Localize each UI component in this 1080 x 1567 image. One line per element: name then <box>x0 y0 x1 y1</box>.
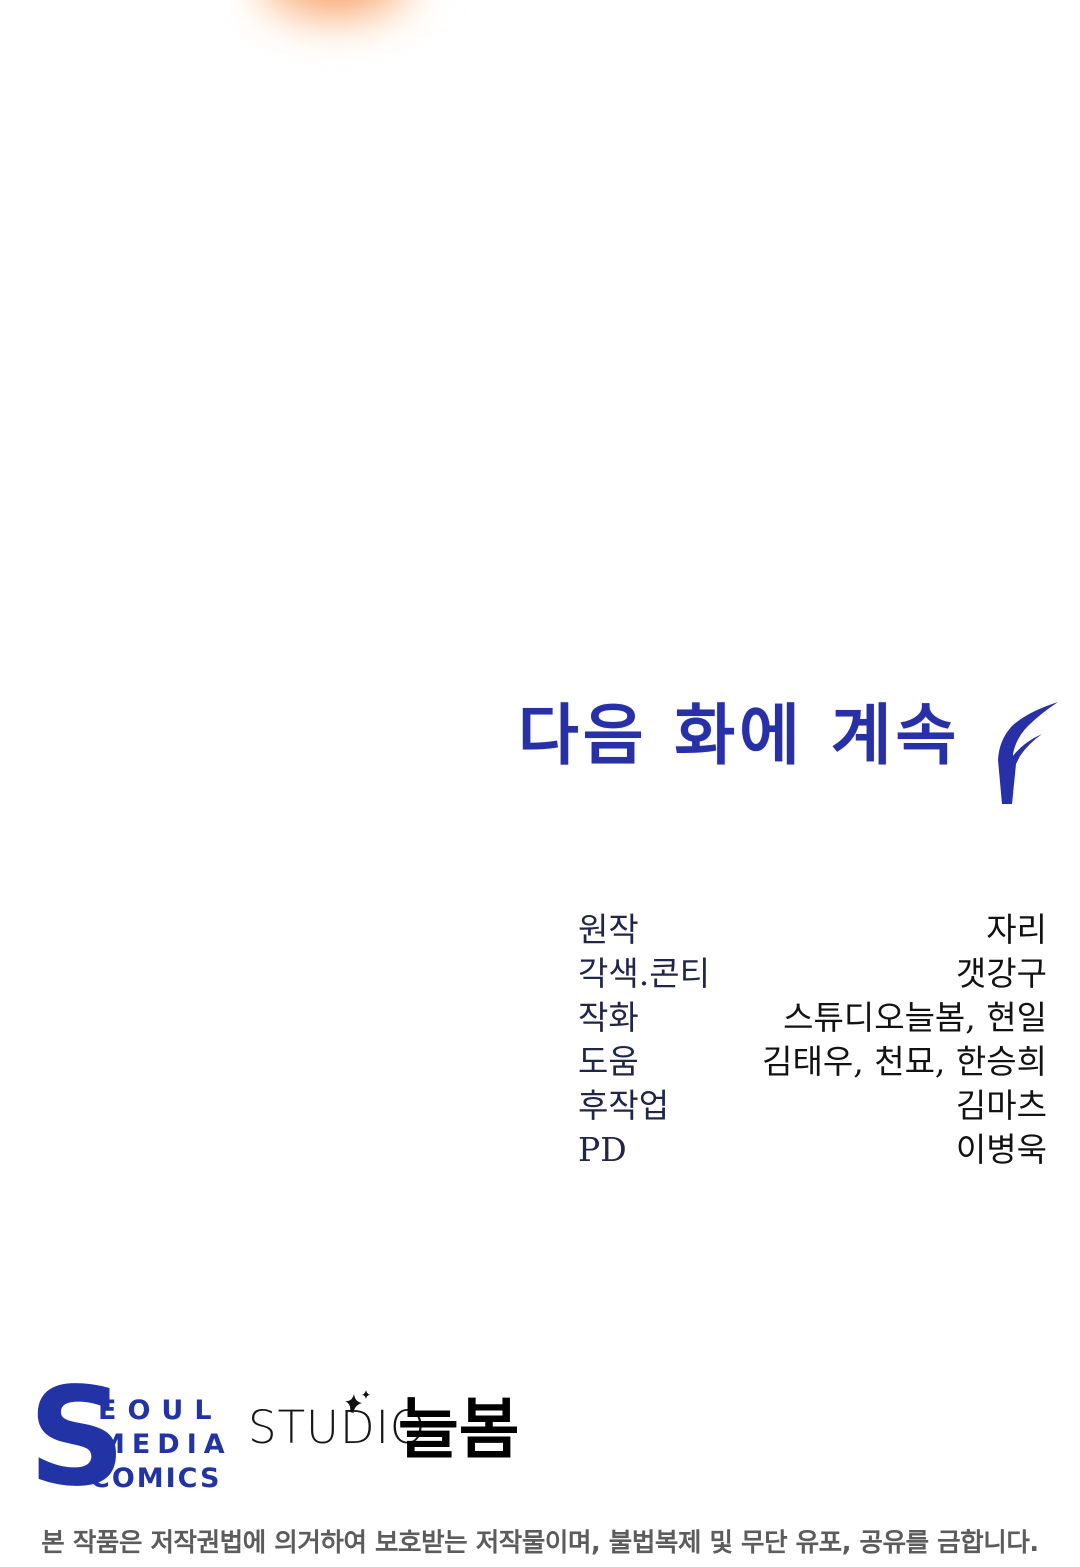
copyright-notice: 본 작품은 저작권법에 의거하여 보호받는 저작물이며, 불법복제 및 무단 유… <box>0 1522 1080 1559</box>
credit-label: 후작업 <box>578 1084 669 1128</box>
credit-row: PD 이병욱 <box>0 1128 1080 1172</box>
credit-label: 도움 <box>578 1040 639 1084</box>
credit-row: 작화 스튜디오늘봄, 현일 <box>0 996 1080 1040</box>
credit-value: 김마츠 <box>956 1084 1047 1128</box>
credit-label: 원작 <box>578 908 639 952</box>
credit-value: 갯강구 <box>956 952 1047 996</box>
publisher-logo-bar: S EOUL MEDIA COMICS STUDIO 늘봄 <box>0 1368 1080 1508</box>
credit-value: 김태우, 천묘, 한승희 <box>762 1040 1047 1084</box>
orange-blur-artwork <box>230 0 490 110</box>
credit-label: 작화 <box>578 996 639 1040</box>
title-flourish-icon <box>972 700 1068 806</box>
credit-value: 자리 <box>986 908 1047 952</box>
episode-end-page: 다음 화에 계속 원작 자리 각색.콘티 갯강구 작화 스튜디오늘봄, 현일 도… <box>0 0 1080 1567</box>
smc-line-comics: COMICS <box>90 1462 270 1496</box>
smc-line-media: MEDIA <box>90 1428 270 1462</box>
credit-label: 각색.콘티 <box>578 952 710 996</box>
credits-list: 원작 자리 각색.콘티 갯강구 작화 스튜디오늘봄, 현일 도움 김태우, 천묘… <box>0 908 1080 1172</box>
seoul-media-comics-logo: S EOUL MEDIA COMICS <box>28 1376 268 1500</box>
credit-row: 각색.콘티 갯강구 <box>0 952 1080 996</box>
credit-row: 후작업 김마츠 <box>0 1084 1080 1128</box>
credit-row: 원작 자리 <box>0 908 1080 952</box>
to-be-continued-title: 다음 화에 계속 <box>0 698 1080 808</box>
orange-blur-core <box>260 0 410 40</box>
orange-blur-halo <box>235 0 445 70</box>
smc-line-seoul: EOUL <box>90 1394 270 1428</box>
title-text: 다음 화에 계속 <box>518 698 960 774</box>
credit-value: 이병욱 <box>956 1128 1047 1172</box>
smc-wordmark: EOUL MEDIA COMICS <box>90 1394 270 1496</box>
studio-neulbom-logo: STUDIO 늘봄 <box>248 1392 528 1492</box>
credit-row: 도움 김태우, 천묘, 한승희 <box>0 1040 1080 1084</box>
sparkle-icon <box>336 1386 376 1420</box>
credit-label: PD <box>578 1128 627 1172</box>
studio-hangul-name: 늘봄 <box>398 1392 519 1468</box>
credit-value: 스튜디오늘봄, 현일 <box>783 996 1047 1040</box>
